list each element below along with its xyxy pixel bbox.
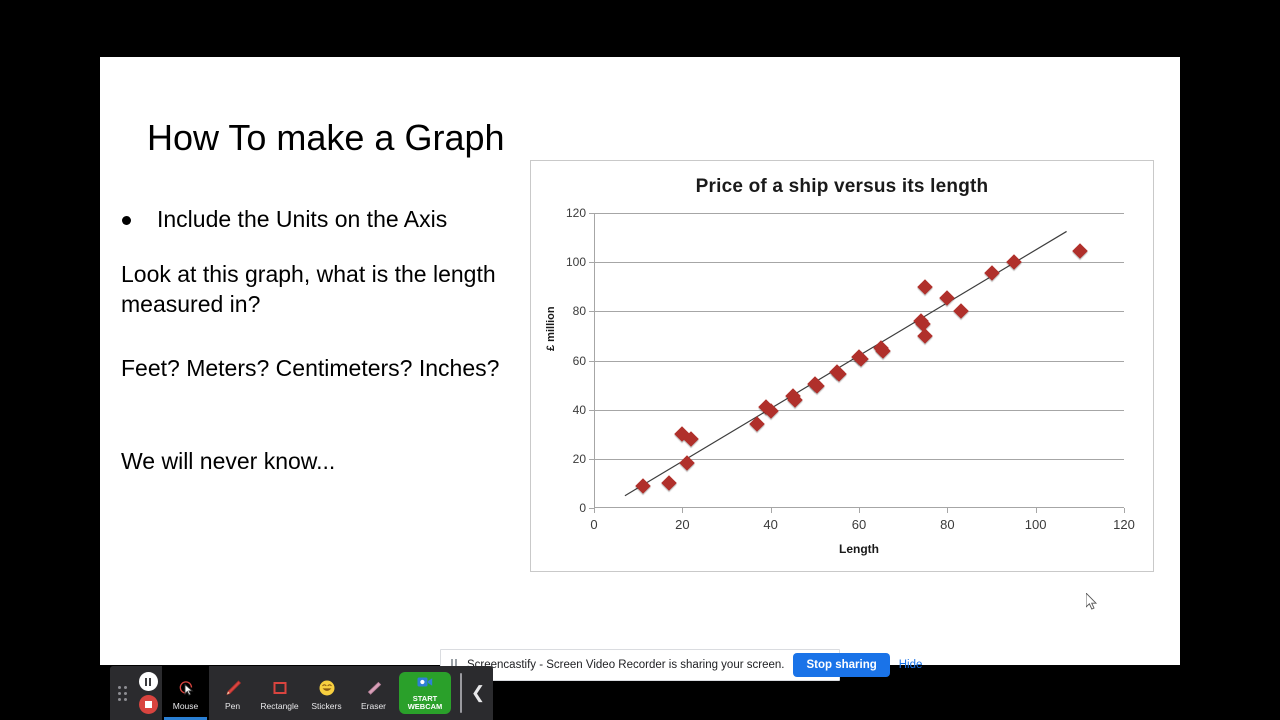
x-axis-tick-mark <box>859 508 860 513</box>
y-axis-tick-mark <box>589 213 594 214</box>
x-axis-tick-mark <box>771 508 772 513</box>
gridline <box>594 262 1124 263</box>
x-axis-tick-label: 0 <box>590 517 597 532</box>
x-axis-tick-mark <box>594 508 595 513</box>
tool-mouse[interactable]: Mouse <box>162 666 209 720</box>
gridline <box>594 213 1124 214</box>
x-axis-tick-label: 20 <box>675 517 689 532</box>
presentation-slide: How To make a Graph Include the Units on… <box>100 57 1180 665</box>
y-axis-tick-mark <box>589 410 594 411</box>
y-axis-tick-label: 60 <box>573 354 586 368</box>
x-axis-tick-mark <box>1036 508 1037 513</box>
y-axis-tick-label: 40 <box>573 403 586 417</box>
page-title: How To make a Graph <box>147 117 505 159</box>
x-axis-tick-mark <box>1124 508 1125 513</box>
gridline <box>594 459 1124 460</box>
smiley-icon <box>317 678 337 699</box>
screen-recording-stage: How To make a Graph Include the Units on… <box>0 0 1280 720</box>
y-axis-title: £ million <box>545 306 557 351</box>
start-webcam-label: START WEBCAM <box>408 695 443 711</box>
hide-link[interactable]: Hide <box>899 659 923 671</box>
x-axis-tick-label: 80 <box>940 517 954 532</box>
x-axis-title: Length <box>594 542 1124 556</box>
screen-share-notification-bar: Screencastify - Screen Video Recorder is… <box>440 649 840 681</box>
chart-title: Price of a ship versus its length <box>531 176 1153 198</box>
eraser-icon <box>364 678 384 699</box>
rectangle-icon <box>270 678 290 699</box>
y-axis-tick-label: 100 <box>566 255 586 269</box>
body-paragraph-1: Look at this graph, what is the length m… <box>121 259 521 320</box>
y-axis-tick-mark <box>589 311 594 312</box>
y-axis-tick-mark <box>589 262 594 263</box>
bullet-list-item: Include the Units on the Axis <box>122 205 542 234</box>
stop-icon[interactable] <box>139 695 158 714</box>
share-status-text: Screencastify - Screen Video Recorder is… <box>467 659 784 671</box>
gridline <box>594 311 1124 312</box>
body-paragraph-3: We will never know... <box>121 446 521 476</box>
tool-rectangle-label: Rectangle <box>260 702 298 711</box>
webcam-icon <box>417 675 433 694</box>
y-axis-tick-label: 20 <box>573 452 586 466</box>
body-paragraph-2: Feet? Meters? Centimeters? Inches? <box>121 353 521 383</box>
tool-stickers[interactable]: Stickers <box>303 666 350 720</box>
x-axis-tick-mark <box>682 508 683 513</box>
y-axis-tick-label: 120 <box>566 206 586 220</box>
x-axis-tick-label: 120 <box>1113 517 1135 532</box>
cursor-icon <box>176 678 196 699</box>
tool-eraser[interactable]: Eraser <box>350 666 397 720</box>
bullet-dot-icon <box>122 216 131 225</box>
tool-stickers-label: Stickers <box>311 702 341 711</box>
start-webcam-button[interactable]: START WEBCAM <box>399 672 451 714</box>
bullet-item-label: Include the Units on the Axis <box>157 205 447 234</box>
y-axis-tick-mark <box>589 361 594 362</box>
chart-plot-area: 020406080100120 020406080100120 <box>594 213 1124 508</box>
tool-pen-label: Pen <box>225 702 240 711</box>
tool-rectangle[interactable]: Rectangle <box>256 666 303 720</box>
screencastify-toolbar: Mouse Pen Rectangle <box>110 666 493 720</box>
toolbar-drag-handle-icon[interactable] <box>110 666 134 720</box>
mouse-cursor-icon <box>1086 593 1098 611</box>
y-axis-tick-mark <box>589 459 594 460</box>
tool-eraser-label: Eraser <box>361 702 386 711</box>
x-axis-tick-label: 60 <box>852 517 866 532</box>
y-axis-tick-label: 80 <box>573 304 586 318</box>
pause-icon[interactable] <box>139 672 158 691</box>
pen-icon <box>223 678 243 699</box>
x-axis-tick-mark <box>947 508 948 513</box>
gridline <box>594 410 1124 411</box>
tool-pen[interactable]: Pen <box>209 666 256 720</box>
y-axis-tick-label: 0 <box>579 501 586 515</box>
scatter-chart: Price of a ship versus its length £ mill… <box>530 160 1154 572</box>
chevron-left-icon[interactable]: ❮ <box>467 666 493 720</box>
toolbar-divider <box>460 673 462 713</box>
recording-controls <box>134 666 162 720</box>
x-axis-tick-label: 100 <box>1025 517 1047 532</box>
stop-sharing-button[interactable]: Stop sharing <box>793 653 889 677</box>
tool-mouse-label: Mouse <box>173 702 199 711</box>
x-axis-tick-label: 40 <box>763 517 777 532</box>
